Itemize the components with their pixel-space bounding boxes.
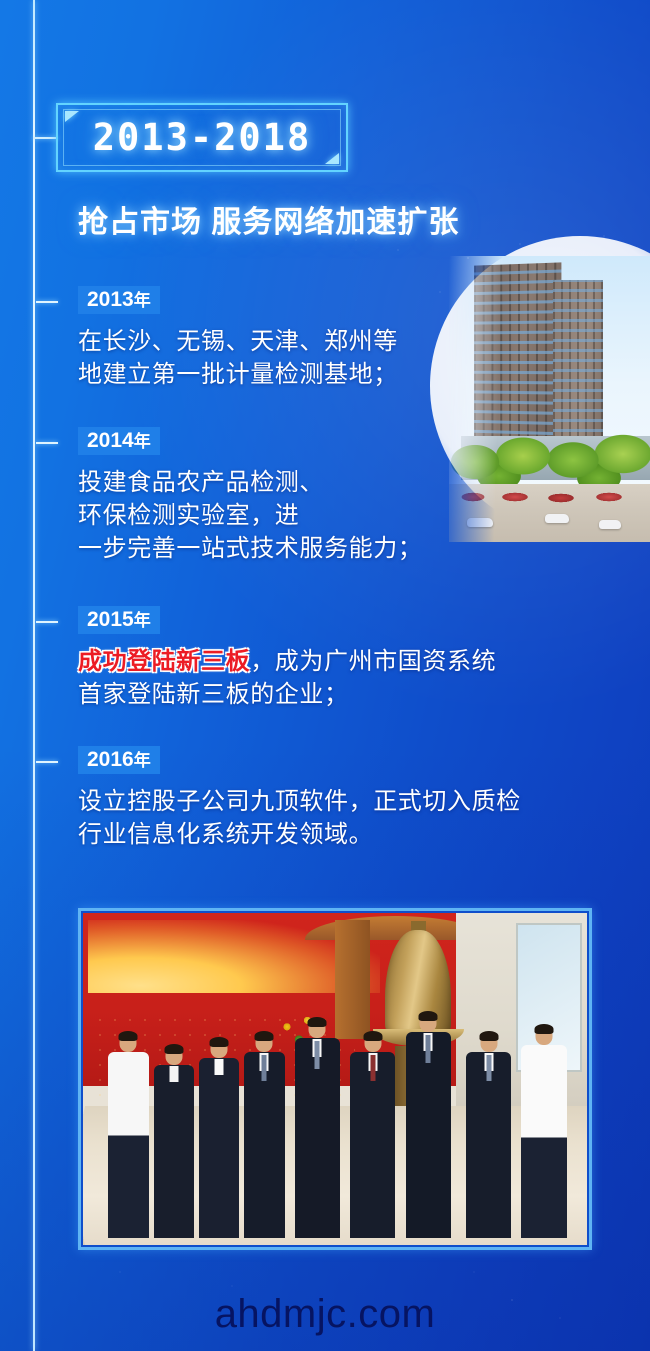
- bell-ringing-ceremony-group-photo: [83, 913, 587, 1245]
- hero-year-range-frame: 2013-2018: [56, 103, 348, 172]
- timeline-entry-2016: 2016年 设立控股子公司九顶软件，正式切入质检 行业信息化系统开发领域。: [78, 746, 521, 851]
- person: [154, 1046, 194, 1239]
- year-value: 2014: [87, 429, 134, 452]
- wooden-beam: [335, 920, 370, 1040]
- year-suffix: 年: [134, 432, 151, 451]
- site-watermark: ahdmjc.com: [0, 1292, 650, 1337]
- person: [108, 1033, 148, 1239]
- person: [199, 1039, 239, 1238]
- street-car: [467, 518, 493, 527]
- entry-line: 设立控股子公司九顶软件，正式切入质检: [78, 785, 521, 818]
- entry-text-2013: 在长沙、无锡、天津、郑州等 地建立第一批计量检测基地；: [78, 325, 398, 391]
- entry-line: 在长沙、无锡、天津、郑州等: [78, 325, 398, 358]
- entry-line-rest: ，成为广州市国资系统: [250, 648, 496, 675]
- year-suffix: 年: [134, 611, 151, 630]
- office-tower-photo: [449, 256, 650, 542]
- page-subtitle: 抢占市场 服务网络加速扩张: [78, 197, 618, 241]
- ceremony-photo-frame: [78, 908, 592, 1250]
- person: [350, 1033, 395, 1239]
- person: [295, 1019, 340, 1238]
- entry-line: 成功登陆新三板，成为广州市国资系统: [78, 645, 496, 678]
- person: [521, 1026, 566, 1238]
- timeline-tick-2014: [36, 442, 58, 444]
- entry-text-2015: 成功登陆新三板，成为广州市国资系统 首家登陆新三板的企业；: [78, 645, 496, 711]
- entry-line: 投建食品农产品检测、: [78, 466, 422, 499]
- timeline-entry-2013: 2013年 在长沙、无锡、天津、郑州等 地建立第一批计量检测基地；: [78, 286, 398, 391]
- entry-line: 环保检测实验室，进: [78, 499, 422, 532]
- year-value: 2013: [87, 288, 134, 311]
- person: [406, 1013, 451, 1239]
- street-car: [599, 520, 621, 529]
- year-suffix: 年: [134, 751, 151, 770]
- entry-line: 一步完善一站式技术服务能力；: [78, 532, 422, 565]
- year-badge-2016: 2016年: [78, 746, 160, 774]
- timeline-tick-2015: [36, 621, 58, 623]
- entry-highlight-text: 成功登陆新三板: [78, 648, 250, 675]
- tower-secondary: [553, 280, 603, 452]
- page-title: 2013-2018: [56, 103, 348, 172]
- timeline-entry-2014: 2014年 投建食品农产品检测、 环保检测实验室，进 一步完善一站式技术服务能力…: [78, 427, 422, 565]
- year-value: 2016: [87, 748, 134, 771]
- tower-main: [474, 262, 561, 455]
- entry-line: 行业信息化系统开发领域。: [78, 818, 521, 851]
- person: [466, 1033, 511, 1239]
- timeline-rail: [33, 0, 35, 1351]
- year-suffix: 年: [134, 291, 151, 310]
- year-value: 2015: [87, 608, 134, 631]
- hero-rail-connector: [33, 137, 58, 139]
- entry-line: 地建立第一批计量检测基地；: [78, 358, 398, 391]
- year-badge-2013: 2013年: [78, 286, 160, 314]
- street-car: [545, 514, 569, 523]
- timeline-entry-2015: 2015年 成功登陆新三板，成为广州市国资系统 首家登陆新三板的企业；: [78, 606, 496, 711]
- entry-line: 首家登陆新三板的企业；: [78, 678, 496, 711]
- timeline-tick-2016: [36, 761, 58, 763]
- entry-text-2016: 设立控股子公司九顶软件，正式切入质检 行业信息化系统开发领域。: [78, 785, 521, 851]
- year-badge-2014: 2014年: [78, 427, 160, 455]
- entry-text-2014: 投建食品农产品检测、 环保检测实验室，进 一步完善一站式技术服务能力；: [78, 466, 422, 565]
- person: [244, 1033, 284, 1239]
- timeline-tick-2013: [36, 301, 58, 303]
- year-badge-2015: 2015年: [78, 606, 160, 634]
- street-ground: [449, 484, 650, 542]
